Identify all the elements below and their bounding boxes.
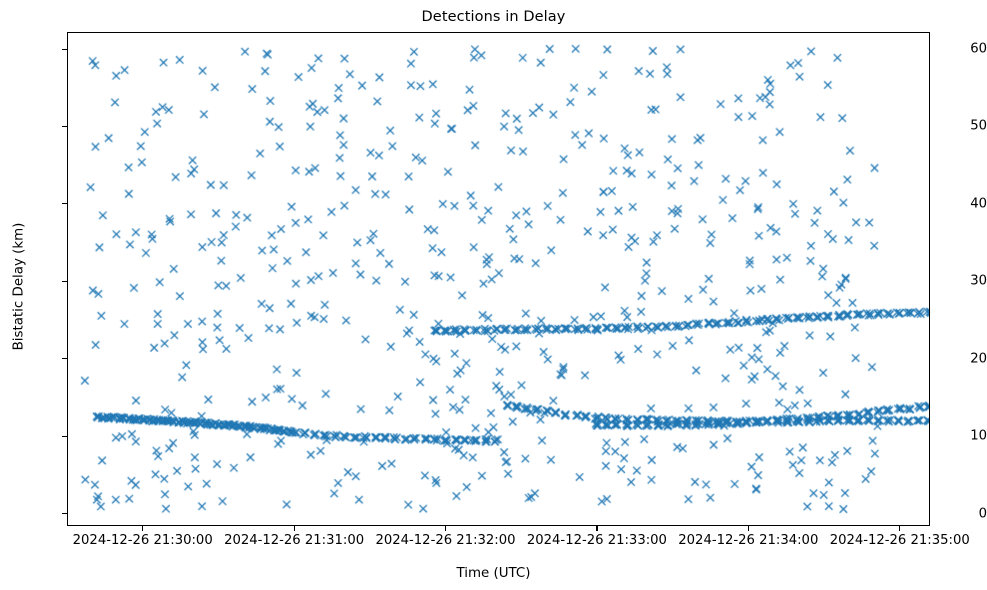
x-tick-label: 2024-12-26 21:35:00: [830, 533, 970, 548]
x-tick-mark: [445, 526, 446, 531]
x-tick-label: 2024-12-26 21:33:00: [527, 533, 667, 548]
x-tick-mark: [596, 526, 597, 531]
x-tick-mark: [748, 526, 749, 531]
matplotlib-figure: Detections in Delay 0102030405060 2024-1…: [0, 0, 987, 590]
x-tick-label: 2024-12-26 21:30:00: [73, 533, 213, 548]
x-tick-label: 2024-12-26 21:31:00: [224, 533, 364, 548]
x-axis-ticks: 2024-12-26 21:30:002024-12-26 21:31:0020…: [0, 0, 987, 590]
x-axis-label: Time (UTC): [0, 566, 987, 581]
y-axis-label: Bistatic Delay (km): [12, 167, 27, 407]
x-tick-label: 2024-12-26 21:34:00: [678, 533, 818, 548]
x-tick-mark: [899, 526, 900, 531]
x-tick-mark: [142, 526, 143, 531]
x-tick-label: 2024-12-26 21:32:00: [375, 533, 515, 548]
x-tick-mark: [294, 526, 295, 531]
